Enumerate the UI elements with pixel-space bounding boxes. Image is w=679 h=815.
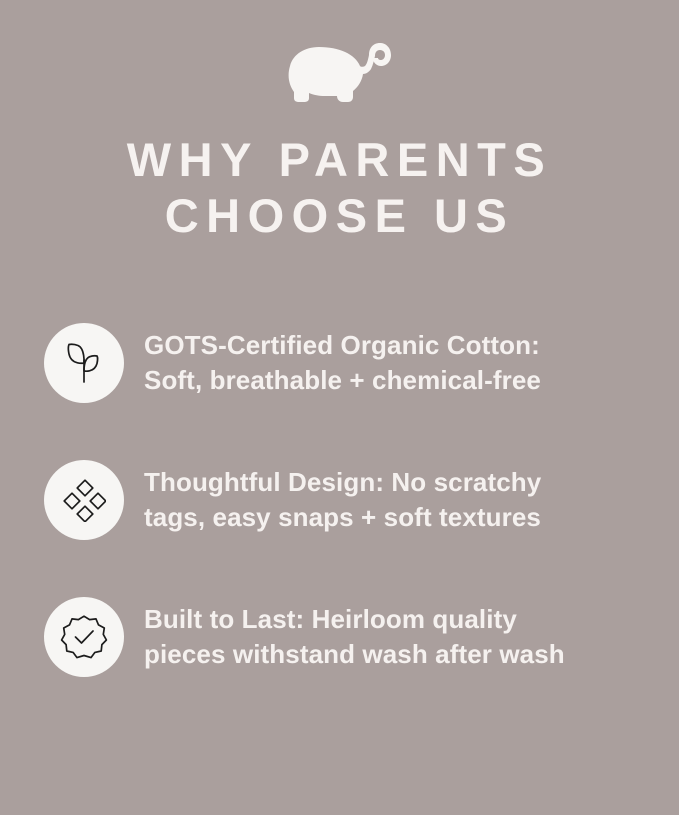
feature-item-thoughtful-design: Thoughtful Design: No scratchy tags, eas… xyxy=(44,460,679,540)
why-parents-choose-us-poster: Why Parents Choose Us GOTS-Certified Org… xyxy=(0,0,679,815)
feature-item-organic-cotton: GOTS-Certified Organic Cotton: Soft, bre… xyxy=(44,323,679,403)
feature-list: GOTS-Certified Organic Cotton: Soft, bre… xyxy=(0,323,679,677)
feature-line-2: pieces withstand wash after wash xyxy=(144,639,565,669)
feature-line-1: Thoughtful Design: No scratchy xyxy=(144,467,541,497)
feature-item-built-to-last: Built to Last: Heirloom quality pieces w… xyxy=(44,597,679,677)
feature-line-1: Built to Last: Heirloom quality xyxy=(144,604,517,634)
feature-text-organic-cotton: GOTS-Certified Organic Cotton: Soft, bre… xyxy=(144,328,541,398)
feature-line-2: Soft, breathable + chemical-free xyxy=(144,365,541,395)
elephant-logo-icon xyxy=(285,37,395,103)
feature-icon-circle xyxy=(44,460,124,540)
feature-line-2: tags, easy snaps + soft textures xyxy=(144,502,541,532)
page-title-line-2: Choose Us xyxy=(0,188,679,244)
feature-text-thoughtful-design: Thoughtful Design: No scratchy tags, eas… xyxy=(144,465,541,535)
feature-line-1: GOTS-Certified Organic Cotton: xyxy=(144,330,540,360)
four-diamonds-icon xyxy=(62,478,106,522)
page-title: Why Parents Choose Us xyxy=(0,132,679,244)
brand-logo xyxy=(280,34,400,106)
feature-icon-circle xyxy=(44,597,124,677)
feature-icon-circle xyxy=(44,323,124,403)
badge-check-icon xyxy=(60,613,108,661)
sprout-leaf-icon xyxy=(62,340,106,386)
feature-text-built-to-last: Built to Last: Heirloom quality pieces w… xyxy=(144,602,565,672)
page-title-line-1: Why Parents xyxy=(0,132,679,188)
